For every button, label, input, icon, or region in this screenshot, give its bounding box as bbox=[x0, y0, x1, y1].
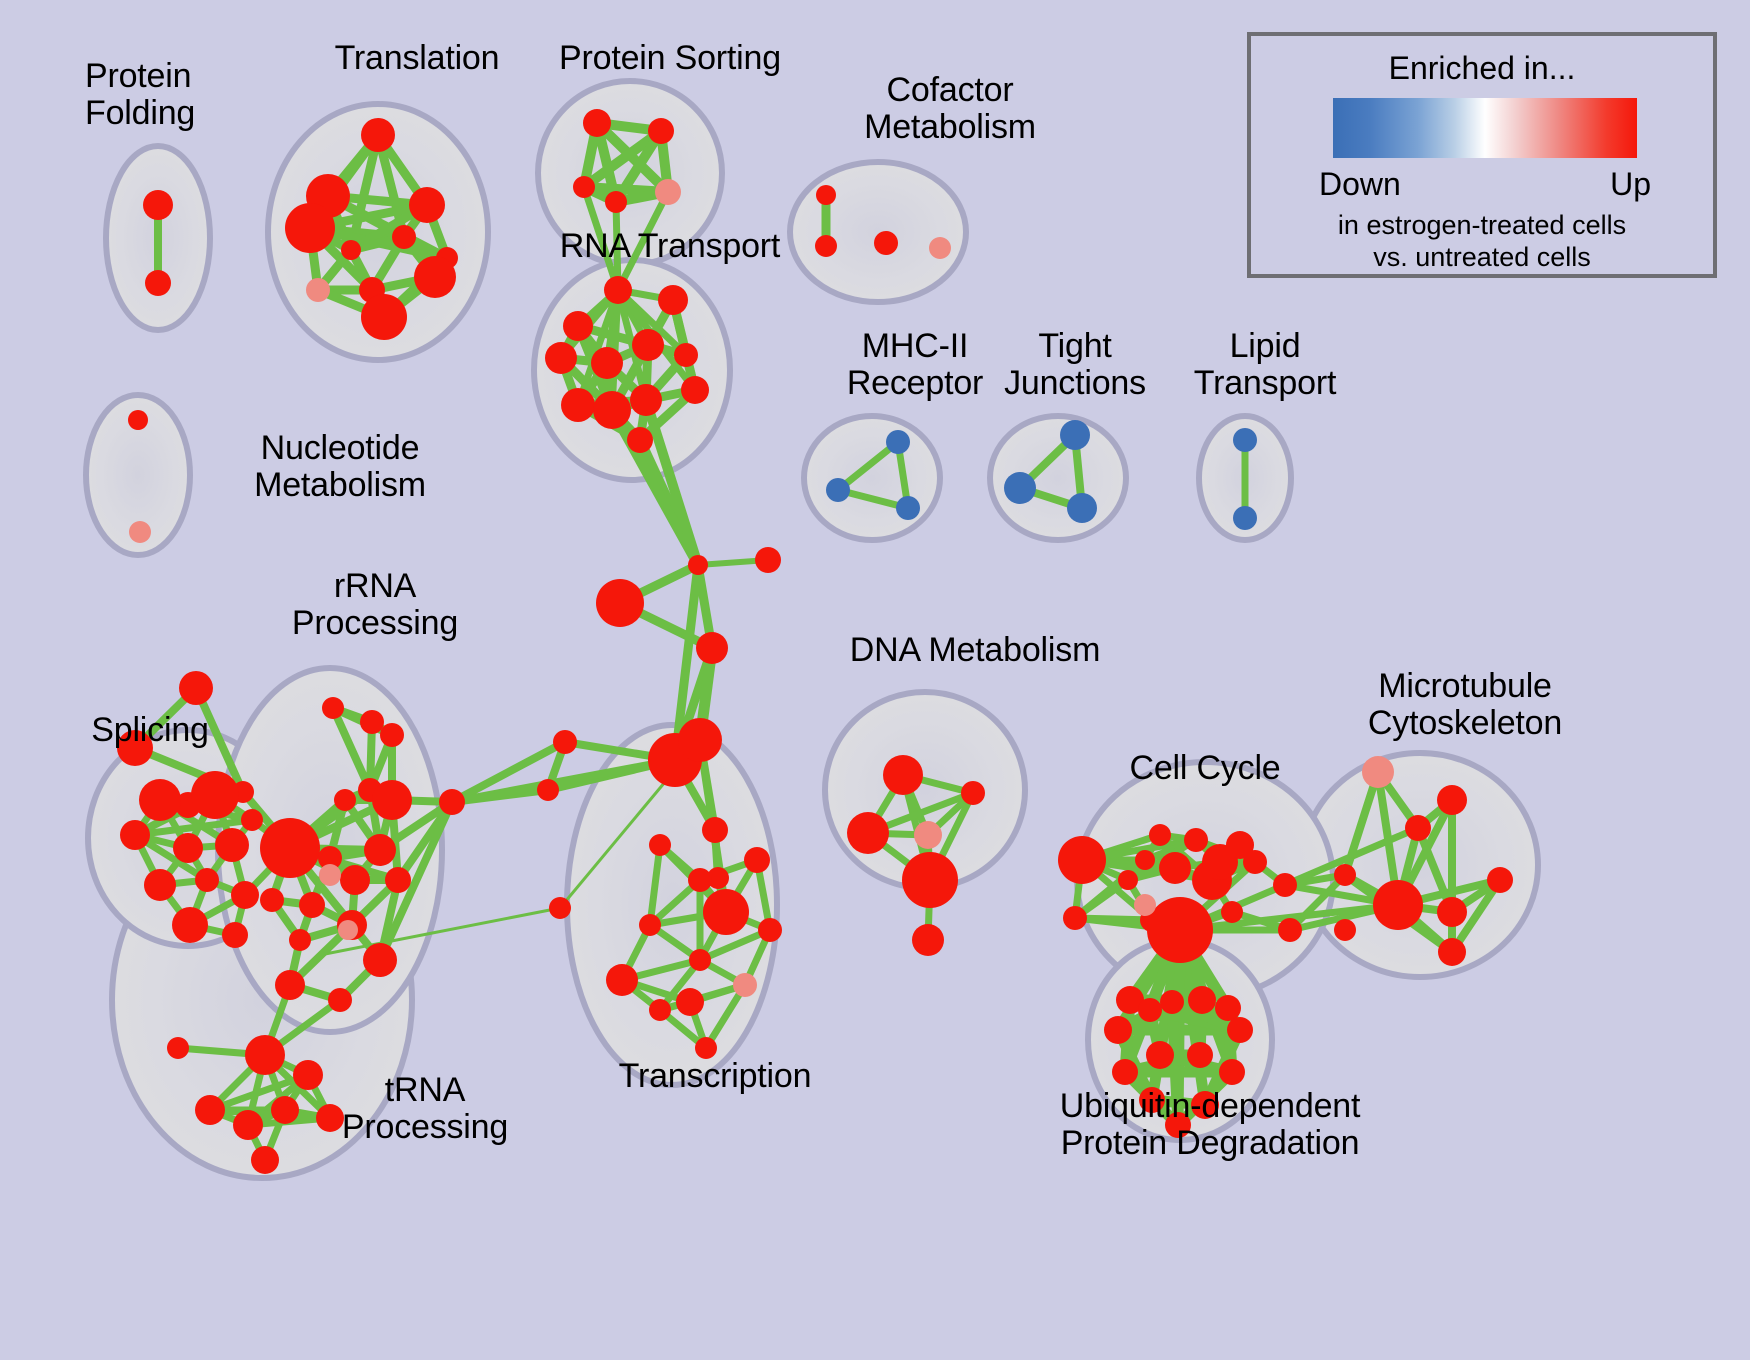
legend-caption-line1: in estrogen-treated cells bbox=[1251, 210, 1713, 241]
cluster-label-microtubule-cytoskeleton: Microtubule Cytoskeleton bbox=[1305, 668, 1625, 741]
cluster-label-rna-transport: RNA Transport bbox=[505, 228, 835, 265]
cluster-label-protein-sorting: Protein Sorting bbox=[505, 40, 835, 77]
cluster-label-dna-metabolism: DNA Metabolism bbox=[810, 632, 1140, 669]
cluster-label-cell-cycle: Cell Cycle bbox=[1090, 750, 1320, 787]
cluster-label-rrna-processing: rRNA Processing bbox=[250, 568, 500, 641]
hull-mhc-ii bbox=[804, 416, 940, 540]
cluster-label-lipid-transport: Lipid Transport bbox=[1150, 328, 1380, 401]
cluster-label-nucleotide-metabolism: Nucleotide Metabolism bbox=[200, 430, 480, 503]
legend-color-gradient bbox=[1333, 98, 1637, 158]
cluster-label-protein-folding: Protein Folding bbox=[85, 58, 295, 131]
enrichment-map-figure: Protein FoldingTranslationProtein Sortin… bbox=[0, 0, 1750, 1360]
legend-title: Enriched in... bbox=[1251, 50, 1713, 87]
cluster-label-cofactor-metabolism: Cofactor Metabolism bbox=[800, 72, 1100, 145]
cluster-label-transcription: Transcription bbox=[570, 1058, 860, 1095]
cluster-label-splicing: Splicing bbox=[60, 712, 240, 749]
legend-low-label: Down bbox=[1319, 166, 1401, 203]
cluster-label-trna-processing: tRNA Processing bbox=[300, 1072, 550, 1145]
cluster-label-ubiquitin-protein-degradation: Ubiquitin-dependent Protein Degradation bbox=[1000, 1088, 1420, 1161]
legend-high-label: Up bbox=[1610, 166, 1651, 203]
legend-caption-line2: vs. untreated cells bbox=[1251, 242, 1713, 273]
legend-box: Enriched in... Down Up in estrogen-treat… bbox=[1247, 32, 1717, 278]
